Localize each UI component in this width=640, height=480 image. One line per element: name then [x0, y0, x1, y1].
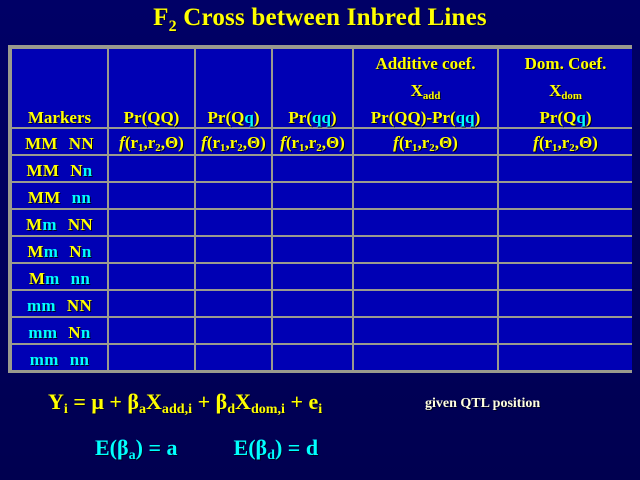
- x-add-subscript: add: [423, 90, 441, 102]
- header-pr-qq-label: Pr(qq): [273, 102, 352, 127]
- marker-genotype-7: mmNN: [12, 291, 107, 316]
- cell-pr-QQ-row3: [109, 183, 194, 208]
- genotype-probability-table: Markers Pr(QQ) Pr(Qq) Pr(qq) Additive co…: [8, 45, 632, 373]
- header-pr-QQ-label: Pr(QQ): [109, 102, 194, 127]
- pr-Qq-Q: Q: [231, 108, 244, 127]
- table-body: MMNNf(r1,r2,Θ)f(r1,r2,Θ)f(r1,r2,Θ)f(r1,r…: [12, 129, 632, 370]
- cell-dominance-row6: [499, 264, 632, 289]
- x-dom-symbol: X: [549, 81, 561, 100]
- header-additive-coef: Additive coef. Xadd Pr(QQ)-Pr(qq): [354, 49, 497, 127]
- dom-formula-pre: Pr(: [540, 108, 564, 127]
- eq-plus-1: +: [104, 389, 128, 414]
- cell-additive-row8: [354, 318, 497, 343]
- pr-qq-post: ): [331, 108, 337, 127]
- cell-pr-Qq-row9: [196, 345, 271, 370]
- eq-X-add: X: [146, 389, 162, 414]
- eq-mu: μ: [91, 389, 103, 414]
- marker-genotype-1: MMNN: [12, 129, 107, 154]
- eq-X-dom-sub: dom,i: [251, 401, 285, 417]
- additive-formula-part1: Pr(QQ)-Pr(: [371, 108, 456, 127]
- marker-genotype-2: MMNn: [12, 156, 107, 181]
- cell-additive-row1: f(r1,r2,Θ): [354, 129, 497, 154]
- cell-pr-QQ-row6: [109, 264, 194, 289]
- cell-additive-row5: [354, 237, 497, 262]
- cell-additive-row3: [354, 183, 497, 208]
- cell-dominance-row1: f(r1,r2,Θ): [499, 129, 632, 154]
- marker-genotype-3: MMnn: [12, 183, 107, 208]
- title-subscript: 2: [169, 18, 177, 35]
- cell-pr-QQ-row4: [109, 210, 194, 235]
- cell-pr-Qq-row4: [196, 210, 271, 235]
- additive-coef-formula: Pr(QQ)-Pr(qq): [354, 102, 497, 127]
- eq-beta-a-sub: a: [139, 401, 146, 417]
- pr-qq-pre: Pr(: [288, 108, 312, 127]
- cell-pr-qq-row4: [273, 210, 352, 235]
- cell-pr-Qq-row3: [196, 183, 271, 208]
- cell-additive-row9: [354, 345, 497, 370]
- eq-X-dom: X: [235, 389, 251, 414]
- eq-beta-d: β: [216, 389, 228, 414]
- cell-pr-qq-row7: [273, 291, 352, 316]
- table-row: MMNNf(r1,r2,Θ)f(r1,r2,Θ)f(r1,r2,Θ)f(r1,r…: [12, 129, 632, 154]
- cell-pr-Qq-row2: [196, 156, 271, 181]
- marker-genotype-5: MmNn: [12, 237, 107, 262]
- qtl-position-note: given QTL position: [425, 396, 540, 412]
- additive-formula-part2: ): [475, 108, 481, 127]
- header-pr-Qq-label: Pr(Qq): [196, 102, 271, 127]
- cell-pr-Qq-row8: [196, 318, 271, 343]
- cell-pr-Qq-row1: f(r1,r2,Θ): [196, 129, 271, 154]
- additive-coef-title: Additive coef.: [354, 52, 497, 73]
- expectation-equations: E(βa) = aE(βd) = d: [95, 435, 318, 464]
- exp-a-beta: β: [117, 435, 129, 460]
- eq-Y: Y: [48, 389, 64, 414]
- cell-pr-QQ-row1: f(r1,r2,Θ): [109, 129, 194, 154]
- additive-coef-variable: Xadd: [354, 73, 497, 102]
- linear-model-equation: Yi = μ + βaXadd,i + βdXdom,i + ei: [48, 389, 322, 418]
- cell-pr-Qq-row7: [196, 291, 271, 316]
- eq-equals: =: [68, 389, 92, 414]
- table-row: MmNN: [12, 210, 632, 235]
- cell-pr-QQ-row7: [109, 291, 194, 316]
- exp-a-close: ) = a: [136, 435, 178, 460]
- page-title: F2 Cross between Inbred Lines: [0, 4, 640, 36]
- cell-pr-QQ-row2: [109, 156, 194, 181]
- title-prefix: F: [153, 4, 168, 31]
- table-row: mmnn: [12, 345, 632, 370]
- header-pr-Qq: Pr(Qq): [196, 49, 271, 127]
- cell-pr-qq-row9: [273, 345, 352, 370]
- cell-pr-Qq-row5: [196, 237, 271, 262]
- cell-dominance-row5: [499, 237, 632, 262]
- additive-formula-qq: qq: [456, 108, 475, 127]
- cell-dominance-row8: [499, 318, 632, 343]
- eq-plus-3: +: [285, 389, 309, 414]
- cell-additive-row4: [354, 210, 497, 235]
- eq-beta-a: β: [127, 389, 139, 414]
- x-dom-subscript: dom: [561, 90, 582, 102]
- eq-e-sub: i: [318, 401, 322, 417]
- cell-dominance-row9: [499, 345, 632, 370]
- cell-pr-qq-row5: [273, 237, 352, 262]
- marker-genotype-6: Mmnn: [12, 264, 107, 289]
- exp-a-sub: a: [129, 447, 136, 463]
- dom-formula-post: ): [586, 108, 592, 127]
- slide-canvas: F2 Cross between Inbred Lines Markers Pr…: [0, 0, 640, 480]
- title-main-text: Cross between Inbred Lines: [183, 4, 487, 31]
- cell-pr-QQ-row8: [109, 318, 194, 343]
- eq-X-add-sub: add,i: [162, 401, 192, 417]
- exp-d-sub: d: [267, 447, 275, 463]
- eq-plus-2: +: [192, 389, 216, 414]
- cell-pr-Qq-row6: [196, 264, 271, 289]
- dom-coef-variable: Xdom: [499, 73, 632, 102]
- cell-dominance-row4: [499, 210, 632, 235]
- cell-pr-QQ-row5: [109, 237, 194, 262]
- header-markers-label: Markers: [12, 102, 107, 127]
- pr-qq-qq: qq: [312, 108, 331, 127]
- table-grid: Markers Pr(QQ) Pr(Qq) Pr(qq) Additive co…: [10, 47, 634, 372]
- exp-d-close: ) = d: [275, 435, 318, 460]
- table-header-row: Markers Pr(QQ) Pr(Qq) Pr(qq) Additive co…: [12, 49, 632, 127]
- eq-e: e: [309, 389, 319, 414]
- eq-beta-d-sub: d: [227, 401, 235, 417]
- cell-dominance-row3: [499, 183, 632, 208]
- cell-pr-qq-row8: [273, 318, 352, 343]
- cell-additive-row7: [354, 291, 497, 316]
- cell-additive-row2: [354, 156, 497, 181]
- header-pr-QQ: Pr(QQ): [109, 49, 194, 127]
- cell-additive-row6: [354, 264, 497, 289]
- marker-genotype-9: mmnn: [12, 345, 107, 370]
- table-row: MMnn: [12, 183, 632, 208]
- pr-Qq-post: ): [254, 108, 260, 127]
- dom-formula-q: q: [576, 108, 585, 127]
- marker-genotype-4: MmNN: [12, 210, 107, 235]
- expectation-additive: E(βa) = a: [95, 435, 178, 460]
- cell-pr-qq-row3: [273, 183, 352, 208]
- expectation-dominance: E(βd) = d: [234, 435, 319, 460]
- exp-d-beta: β: [256, 435, 268, 460]
- cell-pr-QQ-row9: [109, 345, 194, 370]
- exp-a-E: E(: [95, 435, 117, 460]
- pr-Qq-q: q: [244, 108, 253, 127]
- exp-d-E: E(: [234, 435, 256, 460]
- marker-genotype-8: mmNn: [12, 318, 107, 343]
- dom-coef-formula: Pr(Qq): [499, 102, 632, 127]
- cell-pr-qq-row6: [273, 264, 352, 289]
- pr-Qq-pre: Pr(: [208, 108, 232, 127]
- dom-coef-title: Dom. Coef.: [499, 52, 632, 73]
- table-row: MMNn: [12, 156, 632, 181]
- x-add-symbol: X: [411, 81, 423, 100]
- cell-dominance-row2: [499, 156, 632, 181]
- header-dom-coef: Dom. Coef. Xdom Pr(Qq): [499, 49, 632, 127]
- table-row: mmNN: [12, 291, 632, 316]
- cell-pr-qq-row2: [273, 156, 352, 181]
- header-markers: Markers: [12, 49, 107, 127]
- table-row: mmNn: [12, 318, 632, 343]
- dom-formula-Q: Q: [563, 108, 576, 127]
- table-row: Mmnn: [12, 264, 632, 289]
- cell-pr-qq-row1: f(r1,r2,Θ): [273, 129, 352, 154]
- header-pr-qq: Pr(qq): [273, 49, 352, 127]
- table-row: MmNn: [12, 237, 632, 262]
- cell-dominance-row7: [499, 291, 632, 316]
